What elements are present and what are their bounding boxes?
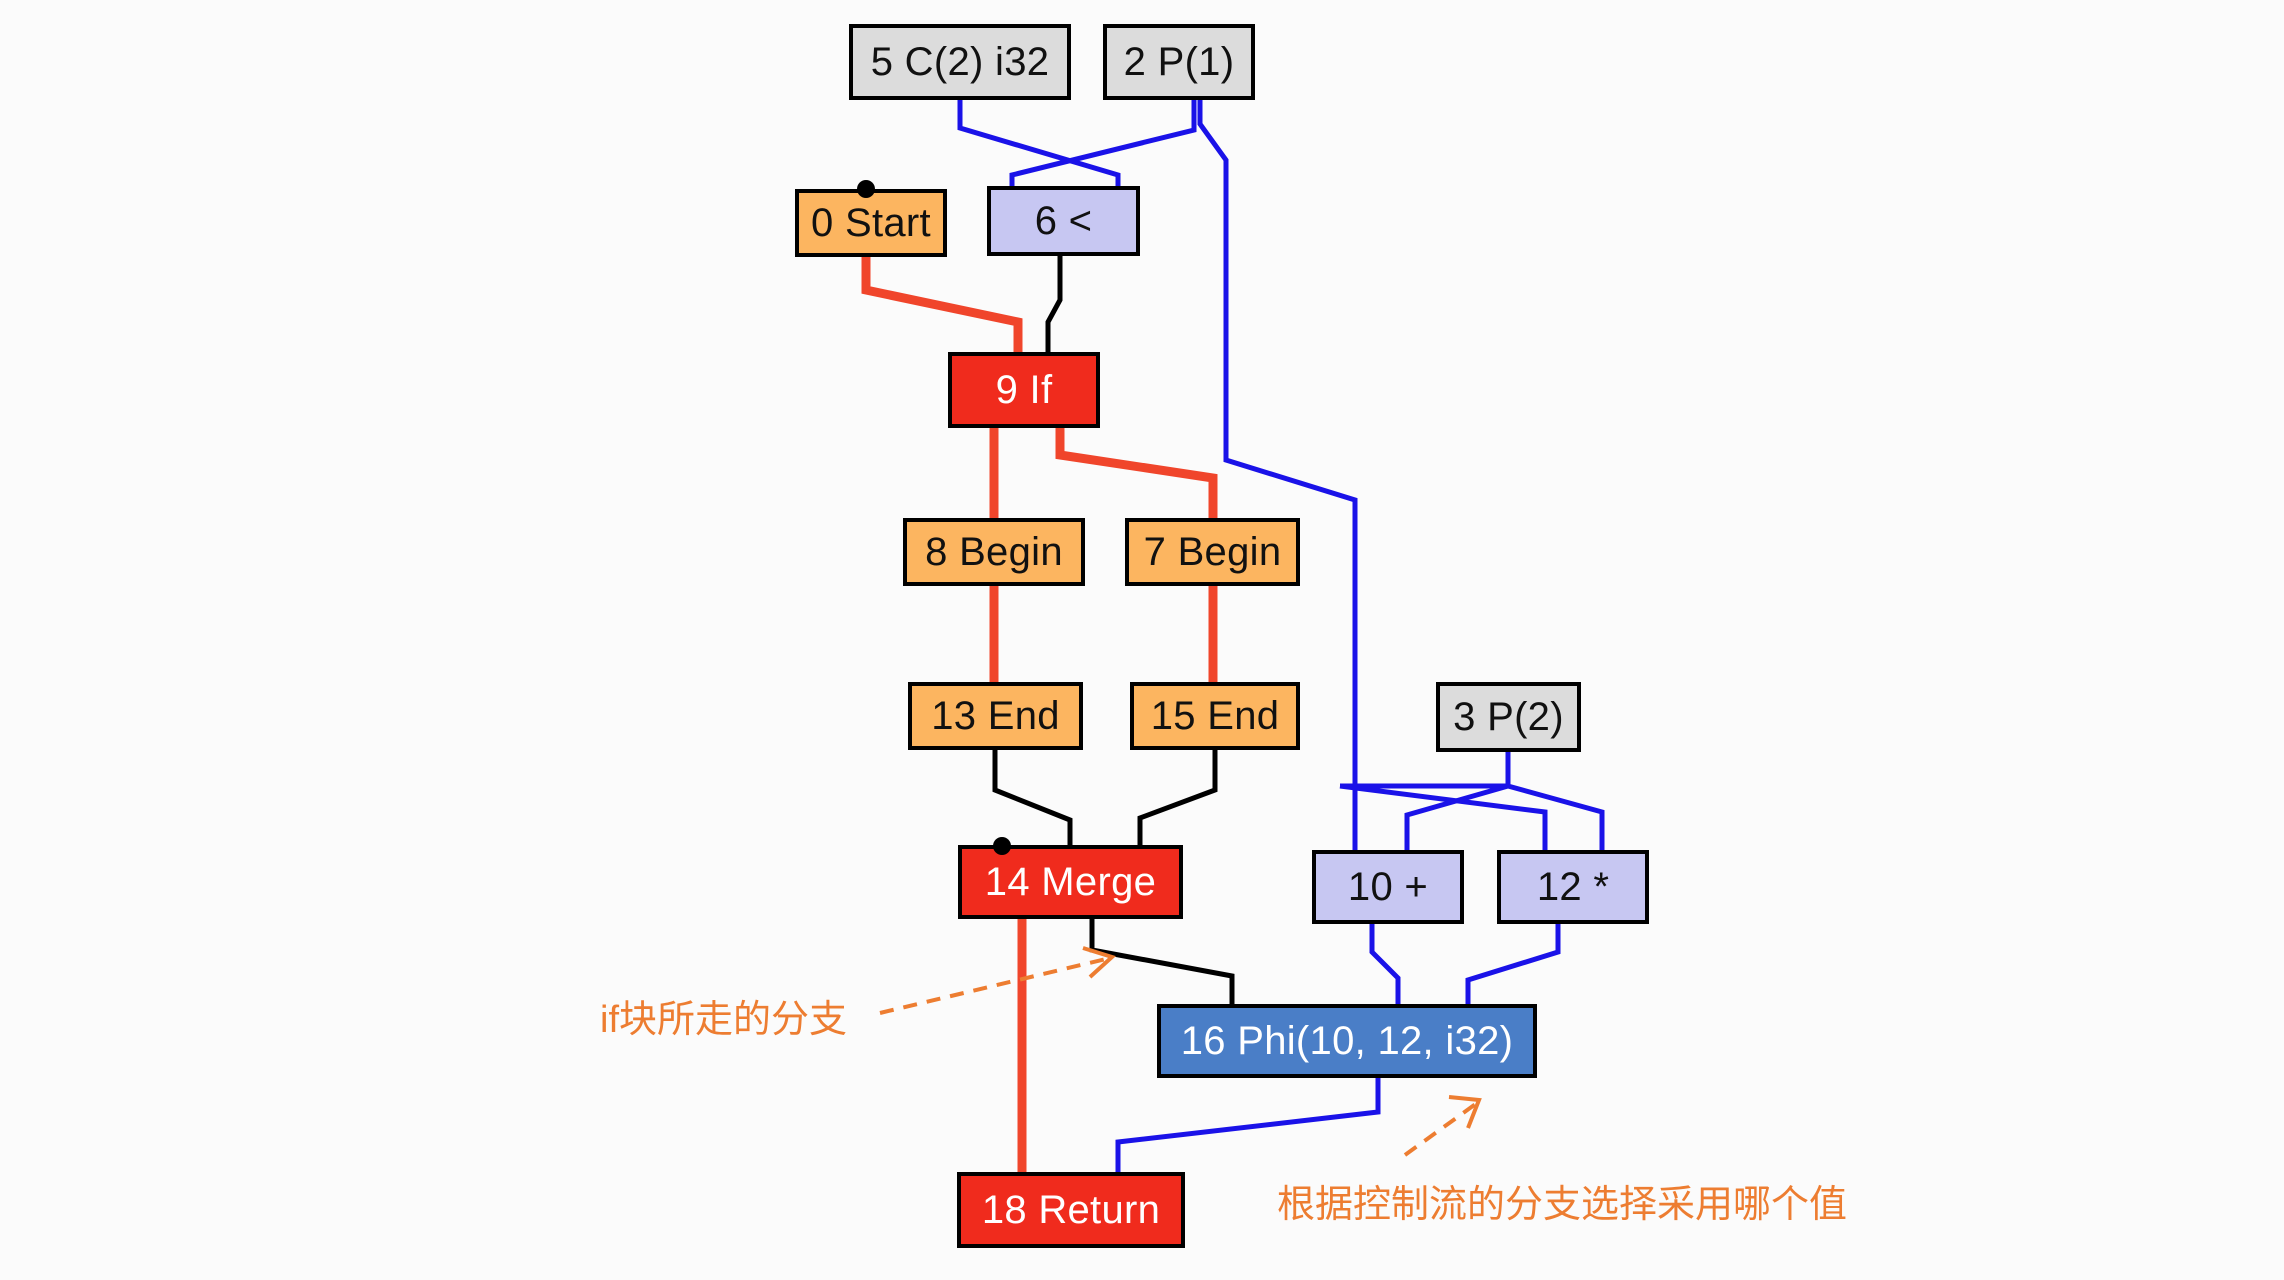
- data-edge-phi-to-return: [1118, 1078, 1378, 1172]
- graph-node-n10[interactable]: 10 +: [1312, 850, 1464, 924]
- annotation-if-branch: if块所走的分支: [600, 1000, 847, 1042]
- annotation-arrow-if-branch: [880, 948, 1112, 1013]
- graph-node-label: 2 P(1): [1124, 42, 1235, 82]
- start-anchor-dot: [857, 180, 875, 198]
- annotation-arrow-phi-value: [1405, 1097, 1479, 1155]
- graph-node-label: 10 +: [1348, 867, 1428, 907]
- graph-node-n6[interactable]: 6 <: [987, 186, 1140, 256]
- data-edge-10-to-phi: [1372, 924, 1398, 1004]
- graph-node-label: 6 <: [1035, 201, 1093, 241]
- plain-edge-6-to-if: [1048, 256, 1060, 352]
- graph-node-label: 12 *: [1537, 867, 1609, 907]
- plain-edge-13-to-merge: [995, 750, 1070, 845]
- graph-node-n8[interactable]: 8 Begin: [903, 518, 1085, 586]
- graph-node-label: 14 Merge: [985, 862, 1156, 902]
- graph-node-n0[interactable]: 0 Start: [795, 189, 947, 257]
- graph-node-n5[interactable]: 5 C(2) i32: [849, 24, 1071, 100]
- graph-node-n18[interactable]: 18 Return: [957, 1172, 1185, 1248]
- graph-node-n12[interactable]: 12 *: [1497, 850, 1649, 924]
- control-edge-start-to-if: [866, 257, 1018, 352]
- graph-node-n7[interactable]: 7 Begin: [1125, 518, 1300, 586]
- data-edge-p2-to-12a: [1508, 752, 1602, 850]
- graph-node-label: 8 Begin: [925, 532, 1063, 572]
- control-edge-if-to-7begin: [1060, 428, 1213, 518]
- edge-layer: [0, 0, 2284, 1280]
- data-edge-left-to-12: [1340, 786, 1545, 850]
- graph-node-label: 0 Start: [811, 203, 931, 243]
- graph-node-n9[interactable]: 9 If: [948, 352, 1100, 428]
- graph-node-label: 18 Return: [982, 1190, 1160, 1230]
- data-edge-12-to-phi: [1468, 924, 1558, 1004]
- graph-node-label: 7 Begin: [1144, 532, 1282, 572]
- graph-node-label: 13 End: [931, 696, 1060, 736]
- graph-node-n3[interactable]: 3 P(2): [1436, 682, 1581, 752]
- graph-node-label: 15 End: [1151, 696, 1280, 736]
- merge-anchor-dot: [993, 837, 1011, 855]
- plain-edge-merge-to-phi: [1092, 919, 1232, 1004]
- data-edge-c5-to-6: [960, 100, 1118, 186]
- graph-node-n15[interactable]: 15 End: [1130, 682, 1300, 750]
- graph-node-n2[interactable]: 2 P(1): [1103, 24, 1255, 100]
- plain-edge-15-to-merge: [1140, 750, 1215, 845]
- graph-node-label: 16 Phi(10, 12, i32): [1181, 1021, 1514, 1061]
- graph-node-label: 5 C(2) i32: [871, 42, 1050, 82]
- graph-node-label: 3 P(2): [1453, 697, 1564, 737]
- graph-canvas: 5 C(2) i322 P(1)0 Start6 <9 If8 Begin7 B…: [0, 0, 2284, 1280]
- graph-node-n16[interactable]: 16 Phi(10, 12, i32): [1157, 1004, 1537, 1078]
- graph-node-n14[interactable]: 14 Merge: [958, 845, 1183, 919]
- annotation-phi-value: 根据控制流的分支选择采用哪个值: [1277, 1185, 1847, 1227]
- graph-node-n13[interactable]: 13 End: [908, 682, 1083, 750]
- graph-node-label: 9 If: [996, 370, 1053, 410]
